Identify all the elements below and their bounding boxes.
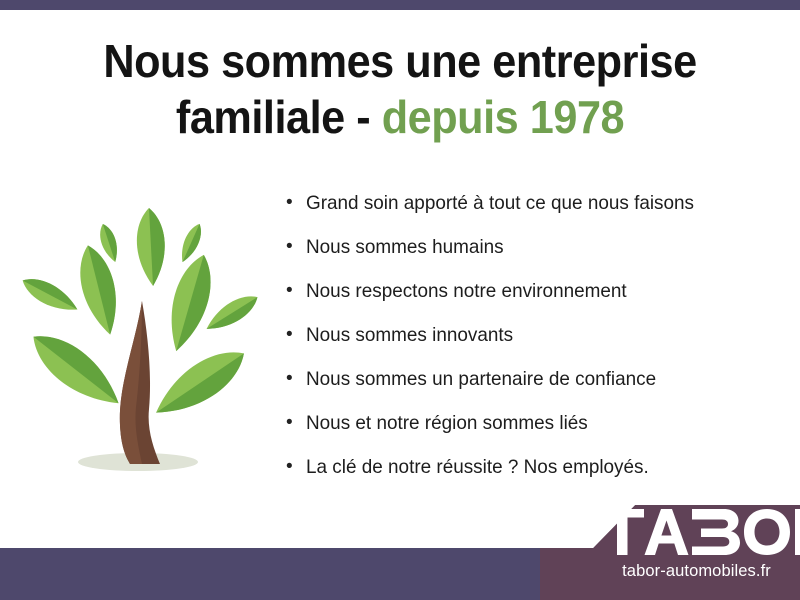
list-item-label: La clé de notre réussite ? Nos employés. <box>306 454 649 480</box>
tree-illustration <box>14 185 264 485</box>
title-accent-since: depuis 1978 <box>382 91 624 143</box>
bullet-marker-icon: • <box>286 366 306 392</box>
list-item-label: Nous respectons notre environnement <box>306 278 627 304</box>
title-line-1: Nous sommes une entreprise <box>24 33 776 89</box>
list-item-label: Nous sommes innovants <box>306 322 513 348</box>
bullet-marker-icon: • <box>286 278 306 304</box>
list-item: • Nous sommes innovants <box>286 322 786 366</box>
list-item-label: Nous sommes un partenaire de confiance <box>306 366 656 392</box>
list-item: • Grand soin apporté à tout ce que nous … <box>286 190 786 234</box>
brand-wordmark <box>600 509 800 555</box>
list-item: • Nous sommes humains <box>286 234 786 278</box>
title-line-2: familiale - depuis 1978 <box>24 89 776 145</box>
bullet-marker-icon: • <box>286 454 306 480</box>
bullet-list: • Grand soin apporté à tout ce que nous … <box>286 190 786 498</box>
list-item-label: Grand soin apporté à tout ce que nous fa… <box>306 190 694 216</box>
list-item: • Nous et notre région sommes liés <box>286 410 786 454</box>
bullet-marker-icon: • <box>286 234 306 260</box>
bullet-marker-icon: • <box>286 322 306 348</box>
brand-url[interactable]: tabor-automobiles.fr <box>593 562 800 581</box>
slide-root: Nous sommes une entreprise familiale - d… <box>0 0 800 600</box>
list-item-label: Nous sommes humains <box>306 234 504 260</box>
title-line-2-plain: familiale - <box>176 91 382 143</box>
bullet-marker-icon: • <box>286 410 306 436</box>
list-item: • Nous sommes un partenaire de confiance <box>286 366 786 410</box>
list-item: • La clé de notre réussite ? Nos employé… <box>286 454 786 498</box>
top-accent-band <box>0 0 800 10</box>
bullet-marker-icon: • <box>286 190 306 216</box>
list-item-label: Nous et notre région sommes liés <box>306 410 588 436</box>
page-title: Nous sommes une entreprise familiale - d… <box>0 33 800 145</box>
list-item: • Nous respectons notre environnement <box>286 278 786 322</box>
